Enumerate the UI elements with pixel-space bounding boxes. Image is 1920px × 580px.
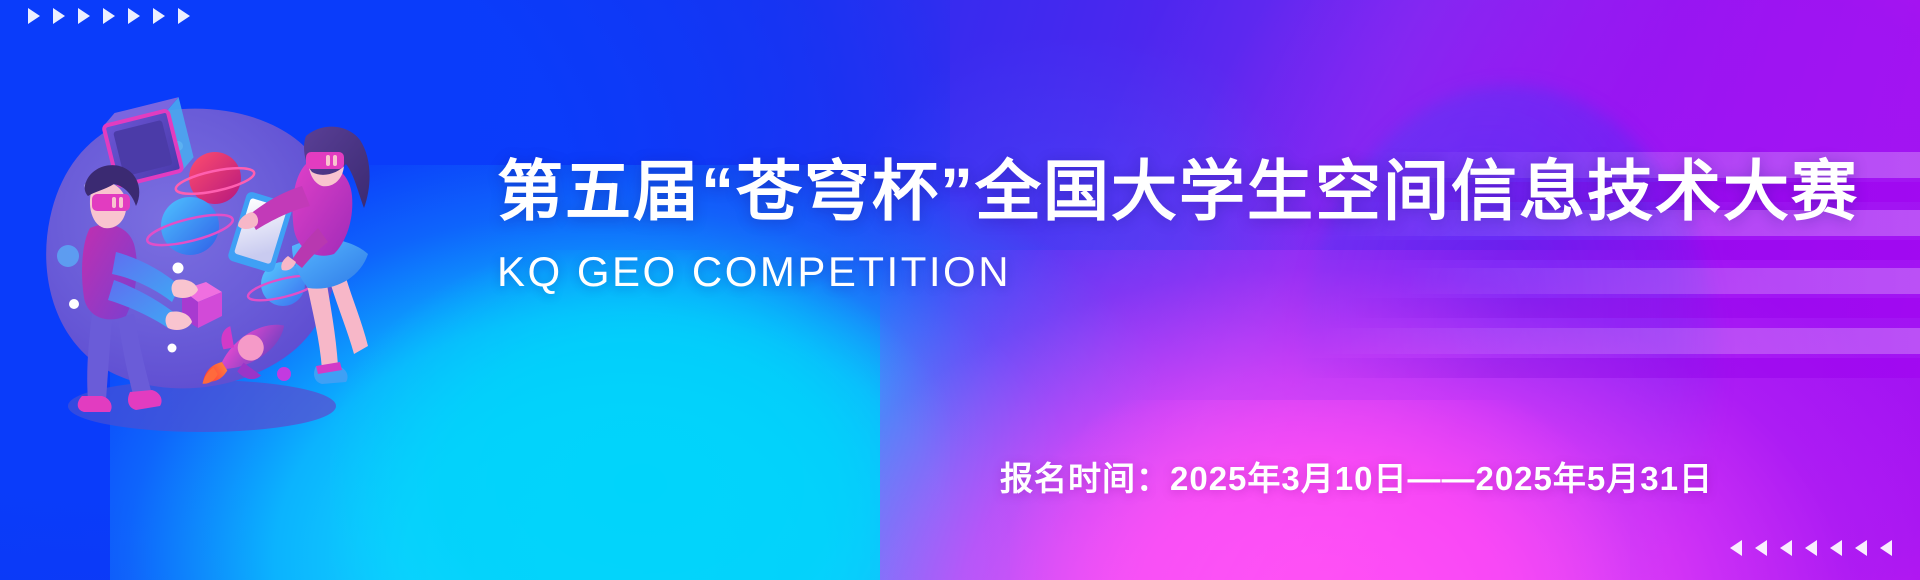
page-subtitle: KQ GEO COMPETITION [497,249,1807,295]
triangle-left-icon [1780,540,1792,556]
decor-arrows-top-left [28,8,190,24]
triangle-left-icon [1830,540,1842,556]
triangle-left-icon [1855,540,1867,556]
page-title: 第五届“苍穹杯”全国大学生空间信息技术大赛 [497,155,1807,229]
vr-goggles [306,152,344,169]
triangle-left-icon [1755,540,1767,556]
triangle-right-icon [103,8,115,24]
star-dot [168,344,177,353]
triangle-right-icon [178,8,190,24]
triangle-right-icon [153,8,165,24]
decor-arrows-bottom-right [1730,540,1892,556]
vr-goggles [92,194,130,211]
headline-block: 第五届“苍穹杯”全国大学生空间信息技术大赛 KQ GEO COMPETITION [497,155,1807,295]
triangle-left-icon [1805,540,1817,556]
vr-space-illustration [30,78,390,478]
triangle-left-icon [1730,540,1742,556]
triangle-left-icon [1880,540,1892,556]
star-dot [173,263,184,274]
triangle-right-icon [78,8,90,24]
registration-period-text: 报名时间：2025年3月10日——2025年5月31日 [1000,452,1713,500]
triangle-right-icon [53,8,65,24]
triangle-right-icon [28,8,40,24]
competition-banner: 第五届“苍穹杯”全国大学生空间信息技术大赛 KQ GEO COMPETITION… [0,0,1920,580]
star-dot [57,245,79,267]
triangle-right-icon [128,8,140,24]
star-dot [69,299,79,309]
star-dot [277,367,291,381]
